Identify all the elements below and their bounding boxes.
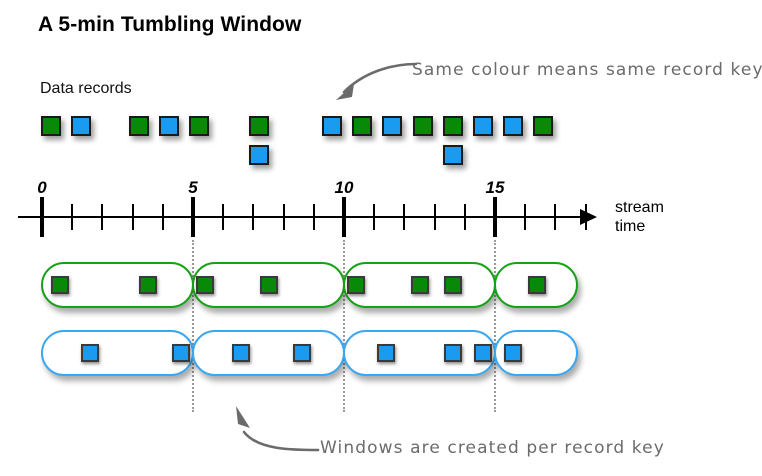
window-boundary-guide — [343, 240, 347, 412]
axis-tick-major — [40, 197, 44, 237]
axis-tick-label: 10 — [335, 178, 354, 198]
windows-note-arrow-icon — [222, 398, 322, 464]
windowed-record-blue — [504, 344, 522, 362]
axis-label: stream time — [615, 198, 664, 236]
axis-tick-minor — [464, 204, 466, 230]
axis-tick-minor — [373, 204, 375, 230]
windowed-record-green — [51, 276, 69, 294]
axis-tick-minor — [71, 204, 73, 230]
axis-tick-minor — [313, 204, 315, 230]
axis-tick-major — [191, 197, 195, 237]
windowed-record-green — [411, 276, 429, 294]
windowed-record-green — [347, 276, 365, 294]
windowed-record-blue — [377, 344, 395, 362]
windowed-record-blue — [474, 344, 492, 362]
axis-tick-label: 5 — [188, 178, 197, 198]
axis-tick-minor — [101, 204, 103, 230]
axis-tick-minor — [222, 204, 224, 230]
windowed-record-green — [139, 276, 157, 294]
data-record-green — [189, 116, 209, 136]
data-record-green — [249, 116, 269, 136]
data-record-blue — [473, 116, 493, 136]
data-record-blue — [322, 116, 342, 136]
axis-tick-minor — [403, 204, 405, 230]
axis-tick-minor — [162, 204, 164, 230]
windowed-record-green — [444, 276, 462, 294]
axis-tick-label: 0 — [37, 178, 46, 198]
colour-note-arrow-icon — [330, 58, 420, 108]
axis-tick-minor — [585, 204, 587, 230]
blue-tumbling-window — [192, 330, 345, 376]
windowed-record-blue — [444, 344, 462, 362]
axis-tick-major — [493, 197, 497, 237]
data-record-blue — [71, 116, 91, 136]
data-record-green — [352, 116, 372, 136]
windowed-record-green — [196, 276, 214, 294]
axis-arrowhead-icon — [580, 209, 597, 225]
window-boundary-guide — [494, 240, 498, 412]
axis-label-line1: stream — [615, 198, 664, 217]
axis-tick-minor — [554, 204, 556, 230]
data-record-blue — [443, 145, 463, 165]
data-record-blue — [382, 116, 402, 136]
windowed-record-green — [260, 276, 278, 294]
data-record-green — [41, 116, 61, 136]
windowed-record-green — [528, 276, 546, 294]
page-title: A 5-min Tumbling Window — [38, 13, 301, 37]
axis-tick-minor — [132, 204, 134, 230]
data-record-blue — [249, 145, 269, 165]
diagram-canvas: A 5-min Tumbling Window Data records 051… — [0, 0, 762, 476]
axis-tick-minor — [283, 204, 285, 230]
axis-label-line2: time — [615, 217, 664, 236]
window-boundary-guide — [192, 240, 196, 412]
data-record-green — [533, 116, 553, 136]
data-records-label: Data records — [40, 80, 132, 98]
data-record-green — [443, 116, 463, 136]
axis-tick-minor — [434, 204, 436, 230]
data-record-blue — [159, 116, 179, 136]
axis-tick-label: 15 — [486, 178, 505, 198]
axis-tick-major — [342, 197, 346, 237]
colour-note-text: Same colour means same record key — [412, 60, 762, 80]
windowed-record-blue — [172, 344, 190, 362]
windowed-record-blue — [293, 344, 311, 362]
axis-tick-minor — [524, 204, 526, 230]
axis-tick-minor — [252, 204, 254, 230]
data-record-green — [129, 116, 149, 136]
data-record-green — [413, 116, 433, 136]
data-record-blue — [503, 116, 523, 136]
windowed-record-blue — [81, 344, 99, 362]
windowed-record-blue — [232, 344, 250, 362]
windows-note-text: Windows are created per record key — [320, 438, 665, 458]
